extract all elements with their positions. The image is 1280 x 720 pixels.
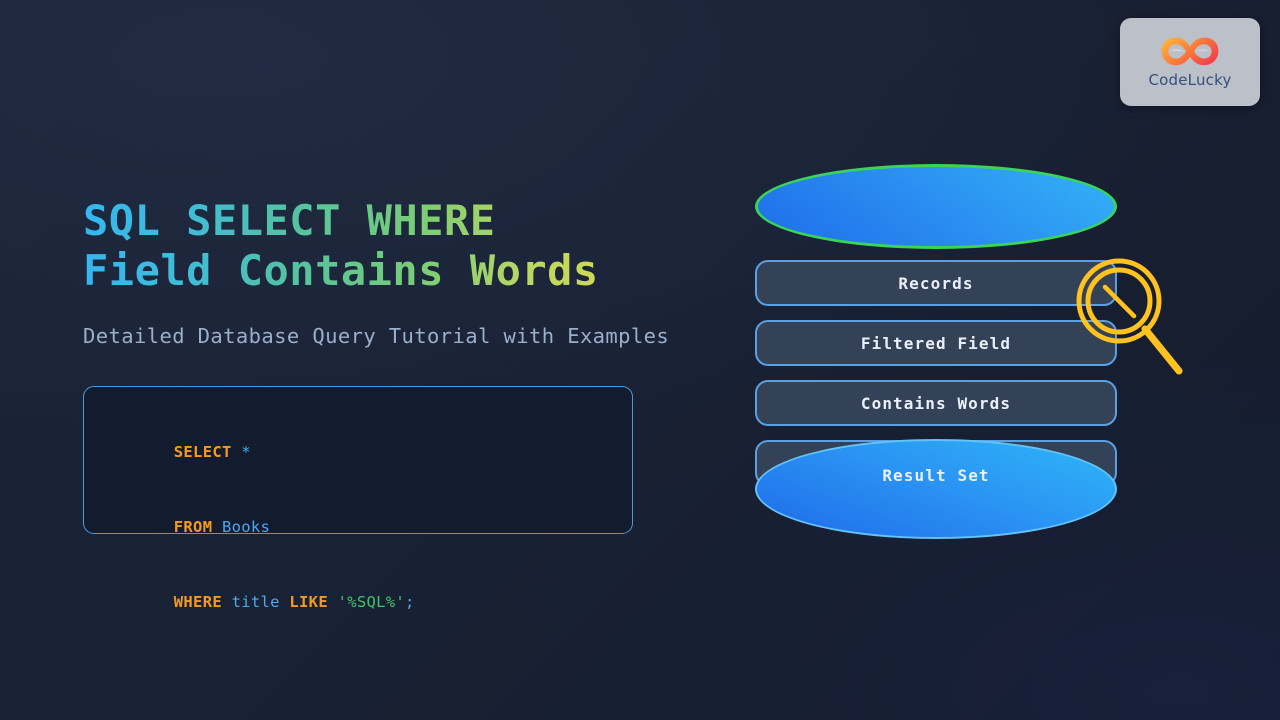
infinity-leaf-icon: [1159, 35, 1221, 69]
sql-code-block: SELECT * FROM Books WHERE title LIKE '%S…: [83, 386, 633, 534]
code-line-3: WHERE title LIKE '%SQL%';: [116, 565, 632, 640]
sql-keyword-select: SELECT: [174, 443, 232, 461]
headline-block: SQL SELECT WHERE Field Contains Words De…: [83, 196, 683, 348]
sql-keyword-like: LIKE: [289, 593, 328, 611]
code-line-1: SELECT *: [116, 415, 632, 490]
sql-semicolon: ;: [405, 593, 415, 611]
database-bottom-ellipse: Result Set: [755, 439, 1117, 539]
database-top-ellipse: [755, 164, 1117, 249]
diagram-row-label: Contains Words: [861, 394, 1011, 413]
sql-table-name: Books: [212, 518, 270, 536]
database-diagram: Records Filtered Field Contains Words Re…: [755, 164, 1121, 539]
diagram-row-filtered-field: Filtered Field: [755, 320, 1117, 366]
diagram-row-label: Records: [898, 274, 973, 293]
sql-column-name: title: [232, 593, 280, 611]
diagram-row-label: Filtered Field: [861, 334, 1011, 353]
page-subtitle: Detailed Database Query Tutorial with Ex…: [83, 324, 683, 348]
sql-keyword-where: WHERE: [174, 593, 222, 611]
sql-string-literal: '%SQL%': [338, 593, 405, 611]
brand-name: CodeLucky: [1148, 71, 1231, 89]
diagram-row-records: Records: [755, 260, 1117, 306]
diagram-row-contains-words: Contains Words: [755, 380, 1117, 426]
brand-logo-card: CodeLucky: [1120, 18, 1260, 106]
page-title: SQL SELECT WHERE Field Contains Words: [83, 196, 683, 297]
slide-root: CodeLucky SQL SELECT WHERE Field Contain…: [0, 0, 1280, 720]
sql-keyword-from: FROM: [174, 518, 213, 536]
sql-select-columns: *: [232, 443, 251, 461]
diagram-row-label: Result Set: [882, 466, 989, 485]
code-line-2: FROM Books: [116, 490, 632, 565]
